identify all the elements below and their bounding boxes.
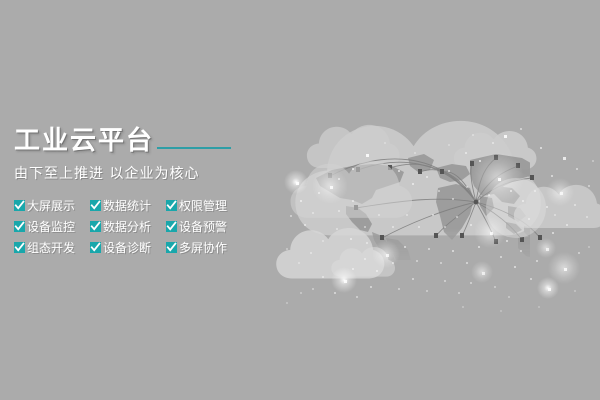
- feature-item[interactable]: 组态开发: [14, 238, 88, 257]
- feature-item-label: 数据统计: [103, 199, 151, 213]
- title-row: 工业云平台: [14, 122, 264, 156]
- feature-item-label: 大屏展示: [27, 199, 75, 213]
- feature-item[interactable]: 数据统计: [90, 196, 164, 215]
- check-square-icon: [90, 200, 101, 211]
- feature-item[interactable]: 大屏展示: [14, 196, 88, 215]
- check-square-icon: [14, 221, 25, 232]
- page-title: 工业云平台: [14, 126, 154, 156]
- check-square-icon: [14, 242, 25, 253]
- hero-text-block: 工业云平台 由下至上推进 以企业为核心 大屏展示数据统计权限管理设备监控数据分析…: [14, 122, 264, 257]
- feature-item[interactable]: 设备预警: [166, 217, 240, 236]
- feature-item[interactable]: 权限管理: [166, 196, 240, 215]
- feature-item-label: 组态开发: [27, 241, 75, 255]
- hero-banner: 工业云平台 由下至上推进 以企业为核心 大屏展示数据统计权限管理设备监控数据分析…: [0, 0, 600, 400]
- feature-item-label: 数据分析: [103, 220, 151, 234]
- check-square-icon: [14, 200, 25, 211]
- feature-item-label: 设备监控: [27, 220, 75, 234]
- feature-item[interactable]: 数据分析: [90, 217, 164, 236]
- check-square-icon: [166, 200, 177, 211]
- feature-item-label: 设备诊断: [103, 241, 151, 255]
- feature-item-label: 多屏协作: [179, 241, 227, 255]
- feature-item[interactable]: 设备监控: [14, 217, 88, 236]
- feature-item-label: 设备预警: [179, 220, 227, 234]
- check-square-icon: [166, 242, 177, 253]
- page-subtitle: 由下至上推进 以企业为核心: [14, 164, 264, 184]
- check-square-icon: [90, 242, 101, 253]
- feature-item-label: 权限管理: [179, 199, 227, 213]
- title-underline-rule: [157, 147, 231, 149]
- check-square-icon: [166, 221, 177, 232]
- feature-item[interactable]: 设备诊断: [90, 238, 164, 257]
- feature-list: 大屏展示数据统计权限管理设备监控数据分析设备预警组态开发设备诊断多屏协作: [14, 196, 264, 257]
- feature-item[interactable]: 多屏协作: [166, 238, 240, 257]
- check-square-icon: [90, 221, 101, 232]
